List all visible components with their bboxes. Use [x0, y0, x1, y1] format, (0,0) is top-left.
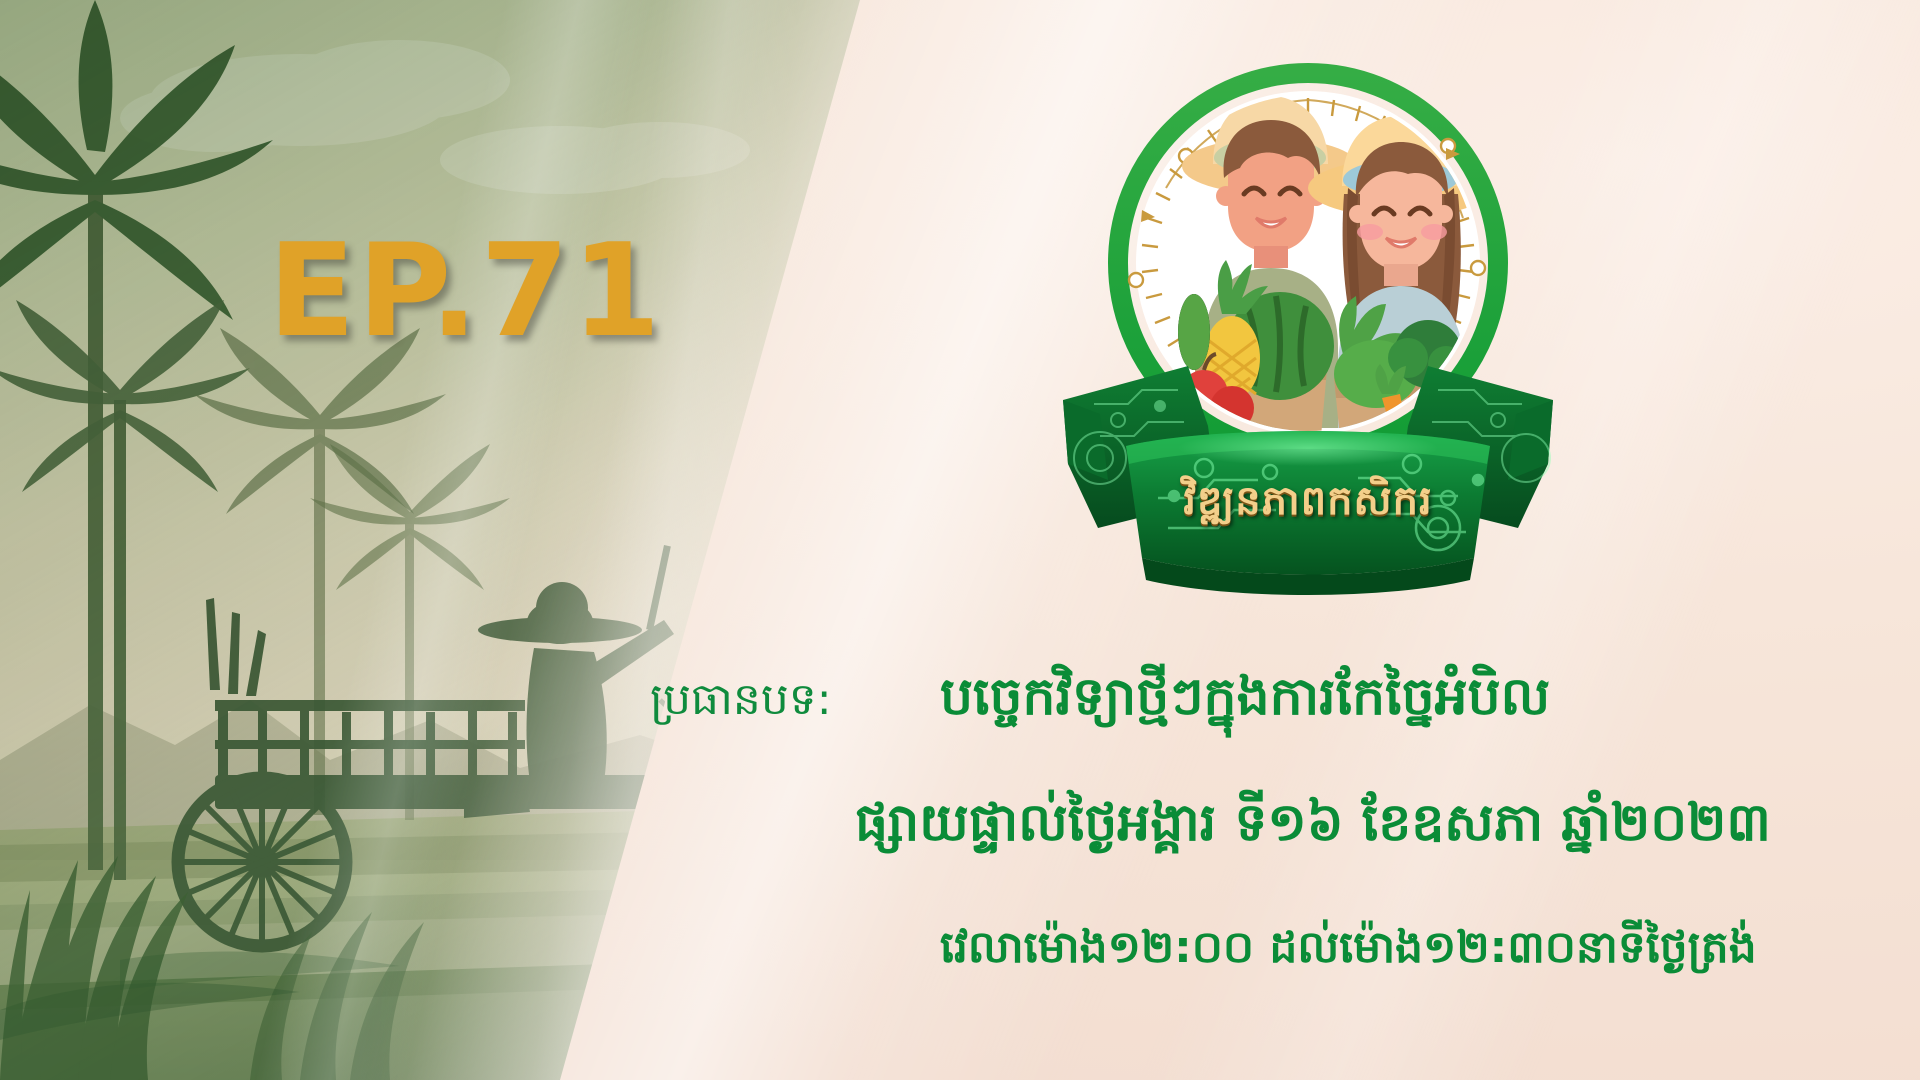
- logo-artwork: [1008, 28, 1608, 638]
- episode-number: EP.71: [268, 228, 663, 356]
- program-logo[interactable]: វិឌ្ឍនភាពកសិករ: [1008, 28, 1608, 638]
- topic-title: បច្ចេកវិទ្យាថ្មីៗក្នុងការកែច្នៃអំបិល: [940, 664, 1550, 740]
- slide-canvas: EP.71: [0, 0, 1920, 1080]
- broadcast-date-line: ផ្សាយផ្ទាល់ថ្ងៃអង្គារ ទី១៦ ខែឧសភា ឆ្នាំ២…: [855, 790, 1771, 866]
- logo-ribbon-label: វិឌ្ឍនភាពកសិករ: [1183, 475, 1432, 534]
- topic-label: ប្រធានបទ:: [650, 672, 832, 736]
- broadcast-time-line: វេលាម៉ោង១២:០០ ដល់ម៉ោង១២:៣០នាទីថ្ងៃត្រង់: [940, 920, 1757, 984]
